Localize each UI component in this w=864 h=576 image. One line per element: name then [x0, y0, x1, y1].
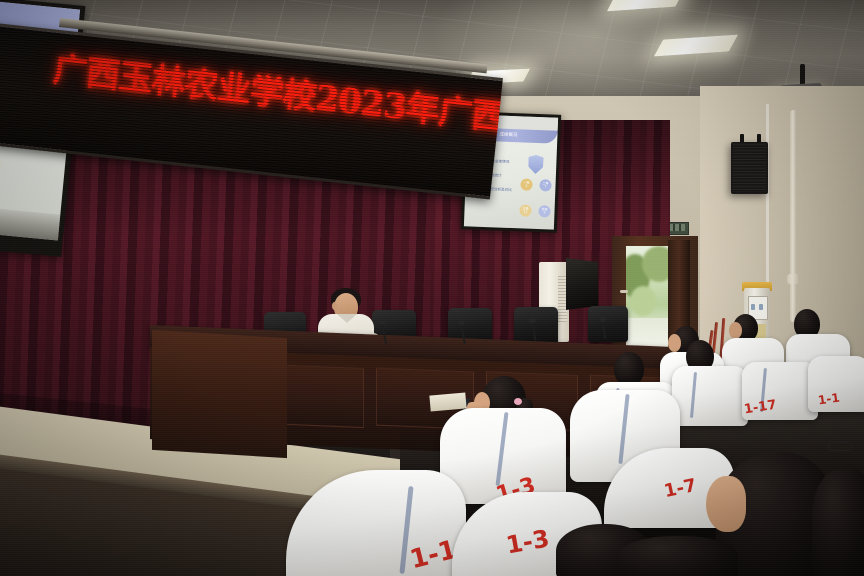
attendee-uniform — [672, 366, 748, 426]
attendee-face — [668, 334, 681, 352]
open-doorway — [626, 246, 674, 352]
screen-bottom-shadow — [0, 203, 60, 240]
foliage — [630, 286, 656, 316]
microphone-head — [458, 320, 465, 325]
microphone-head — [529, 318, 536, 323]
wall-conduit-pipe — [790, 110, 797, 322]
water-dispenser-tap-icon[interactable] — [759, 304, 763, 310]
podium-lectern-block — [152, 330, 287, 458]
slide-award-badge-label: 优秀 9 — [541, 208, 547, 215]
slide-award-badge: 一等 3 — [520, 178, 532, 190]
slide-award-badge-label: 一等 3 — [523, 181, 529, 188]
uniform-back-text: 1-1 — [817, 391, 840, 408]
chair — [588, 306, 628, 342]
wall-conduit-joint — [787, 274, 800, 284]
slide-award-badge: 二等 7 — [539, 179, 551, 191]
right-slide-header-label: 成绩概况 — [499, 132, 517, 139]
stage-speaker — [566, 258, 598, 310]
hair-tie — [514, 398, 522, 405]
conference-hall-photo: 不足 方面 管理 方面 课程设置 方面 师生技能 水平方面 成绩概况 一、竞赛 — [0, 0, 864, 576]
slide-award-badge-label: 二等 7 — [542, 182, 548, 189]
slide-award-badge-label: 三等 12 — [522, 207, 528, 214]
foreground-attendee-face — [706, 476, 746, 532]
microphone-head — [379, 320, 386, 325]
slide-award-badge: 三等 12 — [519, 204, 531, 216]
notebook — [429, 392, 466, 411]
slide-shield-graphic — [528, 155, 544, 175]
attendee-head — [614, 352, 644, 386]
foreground-attendee-head — [812, 470, 864, 576]
glasses-icon — [828, 442, 852, 451]
microphone-head — [599, 317, 606, 322]
foreground-attendee-head — [618, 536, 738, 576]
door-handle-icon[interactable] — [620, 290, 628, 293]
slide-hexagon: 师生技能 水平方面 — [0, 152, 4, 192]
slide-award-badge: 优秀 9 — [538, 205, 550, 217]
attendee-face — [729, 322, 742, 339]
speaker-grille — [733, 144, 766, 190]
presenter-ear — [332, 302, 337, 310]
ac-vent — [558, 276, 567, 322]
water-dispenser-tap-icon[interactable] — [751, 304, 755, 310]
